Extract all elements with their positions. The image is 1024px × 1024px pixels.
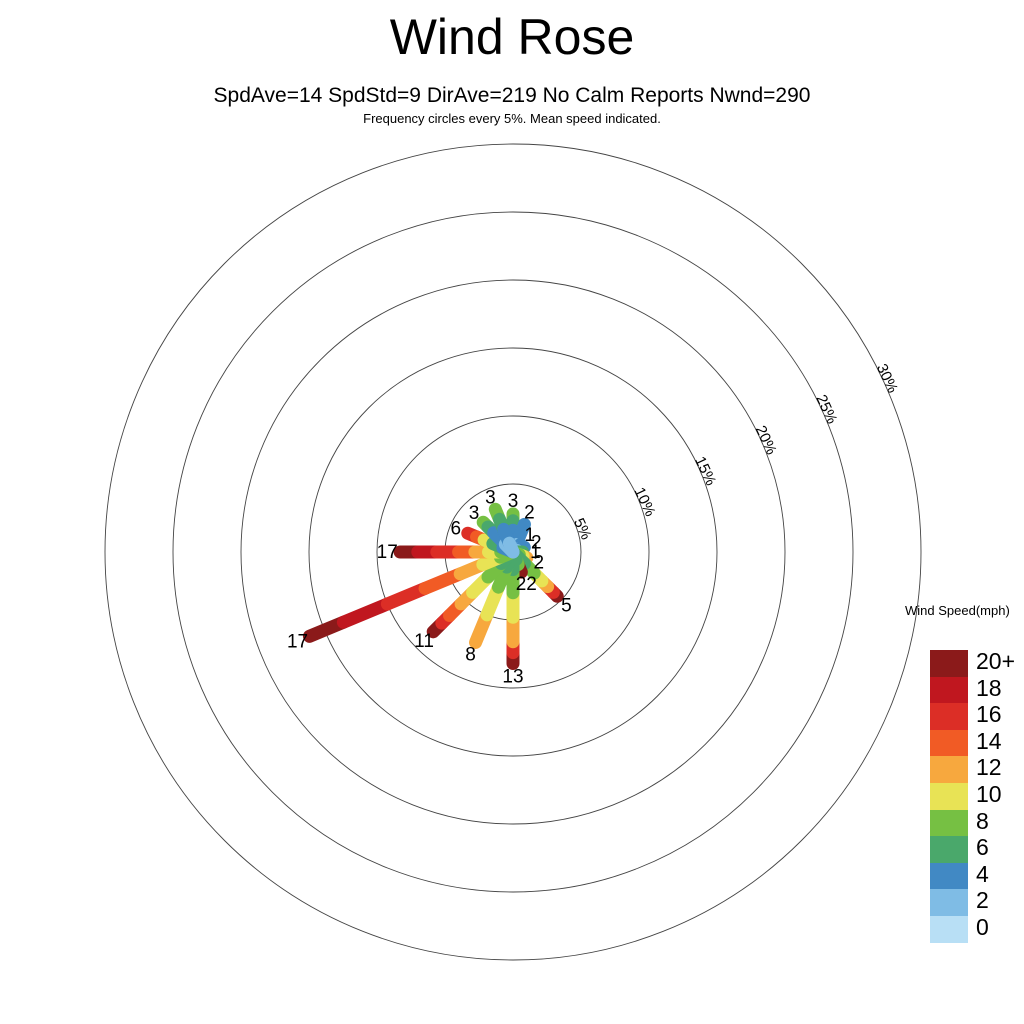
legend-label: 12 <box>976 754 1002 781</box>
petal-mean-speed-label: 3 <box>508 491 519 512</box>
legend-label: 8 <box>976 808 989 835</box>
petal-segment <box>343 604 387 622</box>
petal-mean-speed-label: 6 <box>451 518 462 539</box>
legend-label: 20+ <box>976 648 1015 675</box>
wind-rose-figure: Wind Rose SpdAve=14 SpdStd=9 DirAve=219 … <box>0 0 1024 1024</box>
legend-color-swatch <box>930 650 968 677</box>
petal-mean-speed-label: 5 <box>561 595 572 616</box>
legend-color-swatch <box>930 810 968 837</box>
legend-title: Wind Speed(mph) <box>905 603 1010 618</box>
petal-mean-speed-label: 2 <box>533 553 544 574</box>
legend-label: 10 <box>976 781 1002 808</box>
legend-label: 18 <box>976 675 1002 702</box>
legend-color-swatch <box>930 783 968 810</box>
legend-entry: 8 <box>930 810 968 837</box>
petal-segment <box>509 543 513 552</box>
petal-mean-speed-label: 3 <box>469 503 480 524</box>
legend-color-swatch <box>930 916 968 943</box>
petal-mean-speed-label: 11 <box>414 631 434 652</box>
legend-label: 16 <box>976 701 1002 728</box>
legend-color-swatch <box>930 730 968 757</box>
legend-label: 6 <box>976 834 989 861</box>
legend-label: 14 <box>976 728 1002 755</box>
ring-label: 15% <box>691 454 719 488</box>
speed-colorbar: 20+181614121086420 <box>930 650 968 943</box>
legend-label: 2 <box>976 887 989 914</box>
petal-mean-speed-label: 22 <box>516 574 537 595</box>
legend-entry: 12 <box>930 756 968 783</box>
petal-mean-speed-label: 17 <box>377 542 398 563</box>
legend-entry: 14 <box>930 730 968 757</box>
ring-label: 25% <box>812 392 840 426</box>
legend-color-swatch <box>930 889 968 916</box>
legend-entry: 20+ <box>930 650 968 677</box>
ring-label: 5% <box>570 516 595 543</box>
ring-label: 30% <box>873 361 901 395</box>
legend-color-swatch <box>930 863 968 890</box>
ring-label: 20% <box>752 423 780 457</box>
petal-mean-speed-label: 17 <box>287 631 308 652</box>
ring-label: 10% <box>631 485 659 519</box>
legend-color-swatch <box>930 836 968 863</box>
legend-entry: 4 <box>930 863 968 890</box>
petal-mean-speed-label: 8 <box>465 644 476 665</box>
legend-entry: 0 <box>930 916 968 943</box>
legend-color-swatch <box>930 703 968 730</box>
legend-color-swatch <box>930 677 968 704</box>
petal-mean-speed-label: 13 <box>502 666 523 687</box>
petal-mean-speed-label: 2 <box>524 502 535 523</box>
legend-label: 0 <box>976 914 989 941</box>
legend-color-swatch <box>930 756 968 783</box>
wind-rose-plot: 5%10%15%20%25%30% 321212522138111717633 <box>0 0 1024 1024</box>
legend-entry: 2 <box>930 889 968 916</box>
legend-label: 4 <box>976 861 989 888</box>
legend-entry: 10 <box>930 783 968 810</box>
legend-entry: 16 <box>930 703 968 730</box>
petal-mean-speed-label: 3 <box>485 487 496 508</box>
legend-entry: 18 <box>930 677 968 704</box>
legend-entry: 6 <box>930 836 968 863</box>
